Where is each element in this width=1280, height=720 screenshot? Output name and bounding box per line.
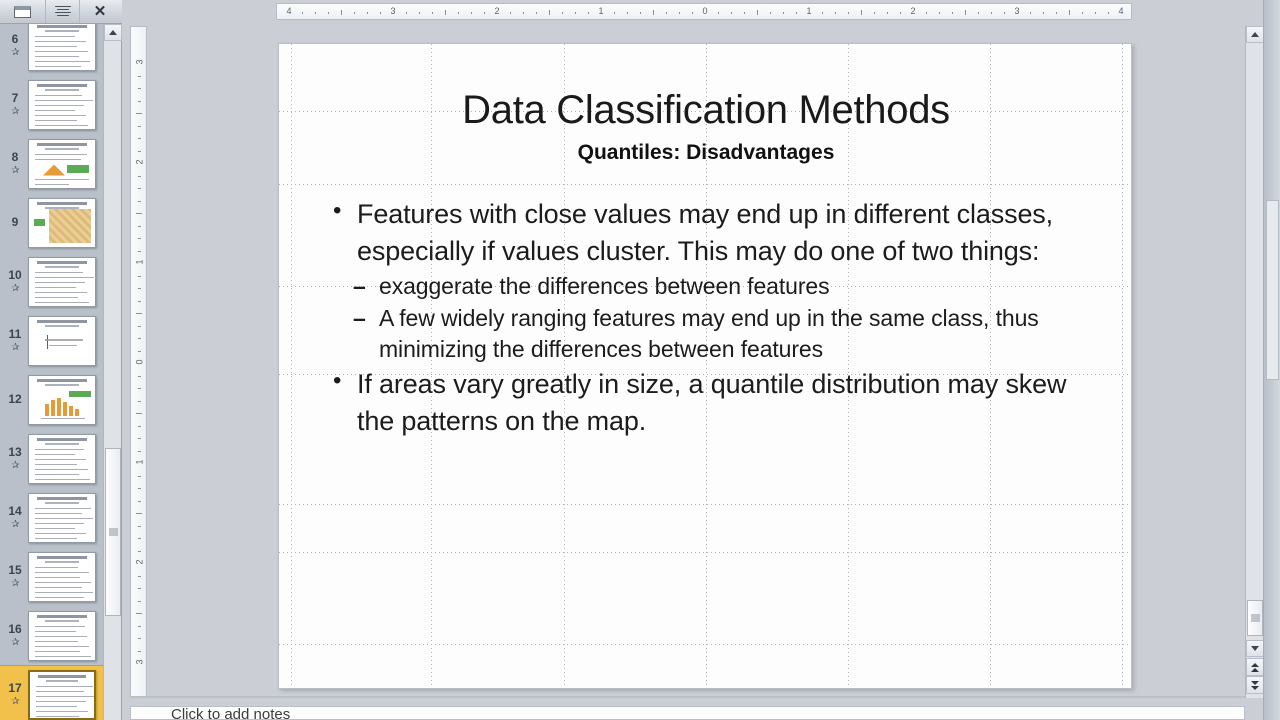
- ruler-tick: [458, 12, 459, 14]
- triangle-down-icon: [1251, 646, 1259, 651]
- scrollbar-thumb[interactable]: [1247, 600, 1263, 636]
- thumb-body-line: [35, 651, 80, 653]
- thumbnail-preview[interactable]: [28, 611, 96, 661]
- grid-line: [279, 184, 1131, 185]
- thumb-bar: [69, 406, 73, 416]
- thumb-body-line: [35, 572, 89, 574]
- ruler-tick: [939, 12, 940, 14]
- ruler-tick: [861, 10, 862, 15]
- bullet-level-1: Features with close values may end up in…: [319, 196, 1109, 269]
- animation-star-icon[interactable]: ✰: [11, 166, 18, 176]
- scroll-down-arrow[interactable]: [1246, 640, 1264, 657]
- ruler-tick: [138, 301, 141, 302]
- ruler-tick: [138, 276, 141, 277]
- ruler-tick: [1004, 12, 1005, 14]
- ruler-tick: [1069, 10, 1070, 15]
- thumb-title-line: [38, 675, 86, 678]
- ruler-tick: [136, 113, 142, 114]
- restore-window-icon[interactable]: [0, 0, 46, 23]
- ruler-tick: [138, 438, 141, 439]
- ruler-tick: [138, 638, 141, 639]
- slide-thumbnail-10[interactable]: 10✰: [0, 252, 104, 311]
- thumbnail-meta: 9: [2, 216, 28, 229]
- ruler-tick: [562, 12, 563, 14]
- ruler-tick: [432, 12, 433, 14]
- thumb-body-line: [35, 297, 78, 299]
- thumbnail-preview[interactable]: [28, 375, 96, 425]
- thumb-body-line: [35, 46, 77, 48]
- ruler-tick: [138, 151, 141, 152]
- notes-placeholder-text: Click to add notes: [131, 707, 1244, 720]
- slide-number: 6: [12, 33, 19, 46]
- thumb-body-line: [36, 711, 88, 713]
- ruler-tick: [138, 288, 141, 289]
- ruler-tick: [510, 12, 511, 14]
- ruler-tick: [952, 12, 953, 14]
- thumbnail-meta: 16✰: [2, 623, 28, 648]
- ruler-tick: [138, 376, 141, 377]
- outline-view-icon[interactable]: [46, 0, 80, 23]
- thumb-body-line: [35, 179, 89, 181]
- thumb-title-line: [37, 556, 87, 559]
- triangle-up-icon: [1251, 32, 1259, 37]
- notes-placeholder-box[interactable]: Click to add notes: [130, 706, 1245, 720]
- thumb-subtitle-line: [45, 325, 79, 327]
- thumb-body-line: [35, 626, 85, 628]
- notes-pane: Click to add notes: [130, 700, 1245, 720]
- ruler-tick: [138, 588, 141, 589]
- thumb-chart-shape: [43, 165, 65, 176]
- ruler-tick: [926, 12, 927, 14]
- slides-panel-scrollbar[interactable]: [103, 24, 121, 720]
- thumb-body-line: [35, 469, 88, 471]
- ruler-tick: [692, 12, 693, 14]
- ruler-tick: [822, 12, 823, 14]
- thumb-body-line: [35, 292, 87, 294]
- close-icon: ✕: [94, 4, 107, 19]
- thumb-subtitle-line: [45, 443, 79, 445]
- slide-number: 14: [8, 505, 21, 518]
- slide-number: 16: [8, 623, 21, 636]
- thumb-title-line: [37, 261, 87, 264]
- grid-line: [291, 44, 292, 688]
- thumbnail-meta: 15✰: [2, 564, 28, 589]
- thumbnail-meta: 8✰: [2, 151, 28, 176]
- scrollbar-thumb[interactable]: [105, 448, 121, 616]
- ruler-tick: [614, 12, 615, 14]
- ruler-tick-label: 2: [135, 155, 145, 170]
- ruler-tick: [536, 12, 537, 14]
- animation-star-icon[interactable]: ✰: [11, 343, 18, 353]
- ruler-tick: [367, 12, 368, 14]
- triangle-up-icon: [1251, 663, 1259, 667]
- thumb-body-line: [35, 656, 91, 658]
- thumb-body-line: [35, 105, 84, 107]
- thumb-body-line: [35, 582, 91, 584]
- thumb-body-line: [35, 36, 75, 38]
- ruler-tick: [471, 12, 472, 14]
- ruler-tick-label: 1: [596, 6, 606, 16]
- ruler-tick: [1095, 12, 1096, 14]
- thumbnail-meta: 7✰: [2, 92, 28, 117]
- ruler-tick: [136, 613, 142, 614]
- ruler-tick: [900, 12, 901, 14]
- thumb-body-line: [35, 479, 90, 481]
- grip-icon: [1251, 615, 1260, 622]
- ruler-tick: [138, 476, 141, 477]
- slide-thumbnail-6[interactable]: 6✰: [0, 24, 104, 75]
- slide-thumbnail-13[interactable]: 13✰: [0, 429, 104, 488]
- slide-title[interactable]: Data Classification Methods: [319, 89, 1093, 131]
- thumb-body-line: [35, 287, 76, 289]
- thumb-body-line: [35, 56, 79, 58]
- ruler-tick: [757, 10, 758, 15]
- thumb-body-line: [36, 691, 84, 693]
- thumb-body-line: [35, 597, 84, 599]
- ruler-tick: [138, 76, 141, 77]
- thumb-subtitle-line: [45, 502, 79, 504]
- thumb-body-line: [35, 587, 82, 589]
- thumbnail-preview[interactable]: [28, 316, 96, 366]
- ruler-tick: [138, 488, 141, 489]
- grid-line: [1122, 44, 1123, 688]
- ruler-tick-label: 3: [135, 655, 145, 670]
- thumbnail-meta: 6✰: [2, 33, 28, 58]
- thumb-axis-line: [41, 418, 85, 420]
- thumbnail-preview[interactable]: [28, 198, 96, 248]
- ruler-tick-label: 2: [908, 6, 918, 16]
- thumbnail-meta: 13✰: [2, 446, 28, 471]
- thumb-bar: [63, 402, 67, 416]
- ruler-tick: [419, 12, 420, 14]
- thumbnail-preview[interactable]: [28, 552, 96, 602]
- ruler-tick: [138, 388, 141, 389]
- animation-star-icon[interactable]: ✰: [11, 697, 18, 707]
- ruler-tick: [575, 12, 576, 14]
- slide-thumbnail-16[interactable]: 16✰: [0, 606, 104, 665]
- thumbnail-meta: 11✰: [2, 328, 28, 353]
- slide-thumbnail-17[interactable]: 17✰: [0, 665, 104, 720]
- slide-number: 8: [12, 151, 19, 164]
- slide-thumbnail-15[interactable]: 15✰: [0, 547, 104, 606]
- ruler-tick-label: 0: [700, 6, 710, 16]
- ruler-tick: [138, 138, 141, 139]
- ruler-tick: [138, 551, 141, 552]
- thumbnail-meta: 10✰: [2, 269, 28, 294]
- thumb-body-line: [35, 125, 88, 127]
- ruler-tick-label: 4: [284, 6, 294, 16]
- thumb-body-line: [36, 716, 79, 718]
- slide-thumbnail-8[interactable]: 8✰: [0, 134, 104, 193]
- animation-star-icon[interactable]: ✰: [11, 107, 18, 117]
- thumb-body-line: [49, 345, 77, 347]
- ruler-tick: [138, 651, 141, 652]
- slide-canvas[interactable]: Data Classification Methods Quantiles: D…: [278, 43, 1132, 689]
- ruler-tick: [796, 12, 797, 14]
- ruler-tick: [965, 10, 966, 15]
- ruler-tick: [136, 413, 142, 414]
- thumb-body-line: [35, 631, 76, 633]
- thumbnail-preview[interactable]: [28, 493, 96, 543]
- ruler-tick: [138, 188, 141, 189]
- ruler-tick: [138, 626, 141, 627]
- thumb-bar: [51, 400, 55, 416]
- ruler-tick: [1056, 12, 1057, 14]
- thumb-body-line: [35, 508, 91, 510]
- ruler-tick: [380, 12, 381, 14]
- thumb-body-line: [35, 282, 85, 284]
- thumb-title-line: [37, 84, 87, 87]
- ruler-tick: [406, 12, 407, 14]
- ruler-tick: [341, 10, 342, 15]
- ruler-tick: [138, 401, 141, 402]
- thumb-subtitle-line: [45, 266, 79, 268]
- slide-body-placeholder[interactable]: Features with close values may end up in…: [319, 196, 1109, 442]
- ruler-tick: [138, 238, 141, 239]
- scroll-up-arrow[interactable]: [104, 24, 122, 41]
- ruler-tick: [354, 12, 355, 14]
- ruler-tick: [666, 12, 667, 14]
- ruler-tick: [627, 12, 628, 14]
- thumbnail-preview[interactable]: [28, 670, 96, 720]
- ruler-tick: [138, 426, 141, 427]
- thumbnail-preview[interactable]: [28, 434, 96, 484]
- ruler-tick: [1082, 12, 1083, 14]
- bullet-list: Features with close values may end up in…: [319, 196, 1109, 440]
- thumb-body-line: [35, 272, 83, 274]
- animation-star-icon[interactable]: ✰: [11, 284, 18, 294]
- thumb-map-image: [49, 209, 91, 243]
- ruler-tick-label: 3: [1012, 6, 1022, 16]
- thumb-title-line: [37, 497, 87, 500]
- thumb-body-line: [35, 641, 78, 643]
- thumb-body-line: [35, 61, 90, 63]
- thumb-title-line: [37, 615, 87, 618]
- ruler-tick: [640, 12, 641, 14]
- slides-panel: ✕ 6✰7✰8✰910✰11✰1213✰14✰15✰16✰17✰: [0, 0, 122, 720]
- triangle-down-icon: [1251, 686, 1259, 690]
- slide-thumbnail-12[interactable]: 12: [0, 370, 104, 429]
- ruler-tick: [138, 451, 141, 452]
- ruler-tick: [328, 12, 329, 14]
- ruler-tick-label: 3: [135, 55, 145, 70]
- thumb-body-line: [35, 277, 94, 279]
- slide-view-scrollbar[interactable]: [1245, 26, 1263, 698]
- grid-line: [279, 504, 1131, 505]
- thumb-body-line: [35, 51, 88, 53]
- ruler-tick: [874, 12, 875, 14]
- thumb-subtitle-line: [45, 561, 79, 563]
- triangle-up-icon: [1251, 668, 1259, 672]
- ruler-tick: [978, 12, 979, 14]
- previous-slide-button[interactable]: [1246, 658, 1264, 676]
- thumb-body-line: [35, 464, 77, 466]
- ruler-tick: [1108, 12, 1109, 14]
- ruler-tick: [991, 12, 992, 14]
- ruler-tick-label: 1: [135, 455, 145, 470]
- animation-star-icon[interactable]: ✰: [11, 579, 18, 589]
- slide-number: 15: [8, 564, 21, 577]
- animation-star-icon[interactable]: ✰: [11, 638, 18, 648]
- thumb-title-line: [37, 438, 87, 441]
- slide-number: 12: [8, 393, 21, 406]
- slide-subtitle[interactable]: Quantiles: Disadvantages: [319, 141, 1093, 165]
- ruler-tick: [523, 12, 524, 14]
- thumb-chart-shape: [67, 165, 89, 173]
- thumb-body-line: [35, 449, 84, 451]
- thumb-subtitle-line: [45, 30, 79, 32]
- animation-star-icon[interactable]: ✰: [11, 520, 18, 530]
- thumb-body-line: [35, 577, 80, 579]
- triangle-down-icon: [1251, 681, 1259, 685]
- slide-number: 17: [8, 682, 21, 695]
- slide-number: 9: [12, 216, 19, 229]
- slide-number: 13: [8, 446, 21, 459]
- thumb-body-line: [35, 636, 87, 638]
- slide-number: 11: [9, 328, 22, 341]
- vertical-ruler[interactable]: 3210123: [130, 26, 147, 698]
- powerpoint-window: ✕ 6✰7✰8✰910✰11✰1213✰14✰15✰16✰17✰ 3210123…: [0, 0, 1280, 720]
- thumb-body-line: [35, 459, 86, 461]
- outer-scrollbar-thumb[interactable]: [1266, 200, 1279, 380]
- ruler-tick-label: 1: [135, 255, 145, 270]
- triangle-up-icon: [109, 30, 117, 35]
- thumb-subtitle-line: [45, 89, 79, 91]
- ruler-tick: [653, 10, 654, 15]
- thumb-bar: [45, 404, 49, 416]
- thumb-body-line: [35, 474, 79, 476]
- thumb-body-line: [35, 110, 75, 112]
- ruler-tick: [138, 126, 141, 127]
- thumb-body-line: [35, 454, 75, 456]
- thumbnail-preview[interactable]: [28, 139, 96, 189]
- thumb-bar: [57, 398, 61, 416]
- ruler-tick: [315, 12, 316, 14]
- ruler-tick: [302, 12, 303, 14]
- thumbnail-preview[interactable]: [28, 24, 96, 71]
- ruler-tick: [835, 12, 836, 14]
- ruler-tick: [138, 526, 141, 527]
- slide-thumbnail-14[interactable]: 14✰: [0, 488, 104, 547]
- thumb-body-line: [35, 41, 86, 43]
- ruler-tick: [848, 12, 849, 14]
- thumb-body-line: [36, 706, 77, 708]
- thumb-body-line: [35, 518, 93, 520]
- ruler-tick: [136, 213, 142, 214]
- animation-star-icon[interactable]: ✰: [11, 48, 18, 58]
- window-right-edge: [1263, 0, 1280, 720]
- ruler-tick-label: 2: [135, 555, 145, 570]
- slide-edit-area[interactable]: Data Classification Methods Quantiles: D…: [148, 26, 1245, 698]
- slide-thumbnail-11[interactable]: 11✰: [0, 311, 104, 370]
- thumb-subtitle-line: [45, 384, 79, 386]
- thumb-body-line: [35, 567, 78, 569]
- thumb-legend: [69, 391, 91, 397]
- ruler-tick: [138, 351, 141, 352]
- ruler-tick: [744, 12, 745, 14]
- thumb-body-line: [35, 513, 82, 515]
- thumbnail-preview[interactable]: [28, 257, 96, 307]
- ruler-tick-label: 4: [1116, 6, 1126, 16]
- thumb-formula-image: [43, 335, 83, 349]
- thumb-title-line: [37, 379, 87, 382]
- thumb-title-line: [37, 25, 87, 28]
- grid-line: [279, 644, 1131, 645]
- thumb-bar: [75, 409, 79, 416]
- ruler-tick: [718, 12, 719, 14]
- thumbnail-meta: 17✰: [2, 682, 28, 707]
- ruler-tick: [588, 12, 589, 14]
- ruler-tick: [1043, 12, 1044, 14]
- ruler-tick: [783, 12, 784, 14]
- grip-icon: [109, 529, 118, 536]
- bullet-level-1: If areas vary greatly in size, a quantil…: [319, 366, 1109, 439]
- thumb-body-line: [36, 696, 95, 698]
- thumbnail-meta: 12: [2, 393, 28, 406]
- ruler-tick: [887, 12, 888, 14]
- thumb-body-line: [35, 154, 87, 156]
- ruler-tick-label: 1: [804, 6, 814, 16]
- thumb-body-line: [35, 302, 89, 304]
- animation-star-icon[interactable]: ✰: [11, 461, 18, 471]
- bullet-level-2: exaggerate the differences between featu…: [319, 271, 1109, 302]
- thumb-body-line: [35, 523, 84, 525]
- ruler-tick: [138, 101, 141, 102]
- thumb-title-line: [37, 143, 87, 146]
- scroll-up-arrow[interactable]: [1246, 26, 1264, 43]
- close-panel-button[interactable]: ✕: [80, 0, 120, 23]
- ruler-tick: [731, 12, 732, 14]
- ruler-tick-label: 3: [388, 6, 398, 16]
- slide-thumbnail-7[interactable]: 7✰: [0, 75, 104, 134]
- ruler-tick: [445, 10, 446, 15]
- thumb-body-line: [35, 646, 89, 648]
- ruler-tick: [138, 226, 141, 227]
- thumb-body-line: [35, 592, 93, 594]
- thumb-legend: [34, 219, 45, 226]
- horizontal-ruler[interactable]: 432101234: [276, 3, 1132, 20]
- thumb-subtitle-line: [46, 680, 78, 682]
- thumb-body-line: [35, 159, 81, 161]
- ruler-tick: [138, 251, 141, 252]
- thumb-body-line: [35, 528, 75, 530]
- thumb-body-line: [45, 339, 83, 341]
- ruler-tick-label: 0: [135, 355, 145, 370]
- sub-bullet-list: exaggerate the differences between featu…: [319, 271, 1109, 364]
- ruler-tick: [484, 12, 485, 14]
- thumb-body-line: [35, 538, 77, 540]
- thumb-body-line: [35, 533, 86, 535]
- slides-panel-scroll-area: 6✰7✰8✰910✰11✰1213✰14✰15✰16✰17✰: [0, 24, 104, 720]
- thumb-title-line: [37, 320, 87, 323]
- thumb-body-line: [36, 701, 86, 703]
- thumb-body-line: [35, 115, 86, 117]
- slide-number: 7: [12, 92, 19, 105]
- ruler-tick: [138, 501, 141, 502]
- slide-thumbnail-9[interactable]: 9: [0, 193, 104, 252]
- thumb-subtitle-line: [45, 620, 79, 622]
- thumbnail-preview[interactable]: [28, 80, 96, 130]
- ruler-tick: [138, 326, 141, 327]
- grid-line: [279, 552, 1131, 553]
- ruler-tick: [136, 513, 142, 514]
- ruler-tick: [770, 12, 771, 14]
- slide-thumbnail-list: 6✰7✰8✰910✰11✰1213✰14✰15✰16✰17✰: [0, 24, 104, 720]
- ruler-tick: [138, 338, 141, 339]
- ruler-tick: [136, 313, 142, 314]
- ruler-tick: [138, 88, 141, 89]
- next-slide-button[interactable]: [1246, 676, 1264, 694]
